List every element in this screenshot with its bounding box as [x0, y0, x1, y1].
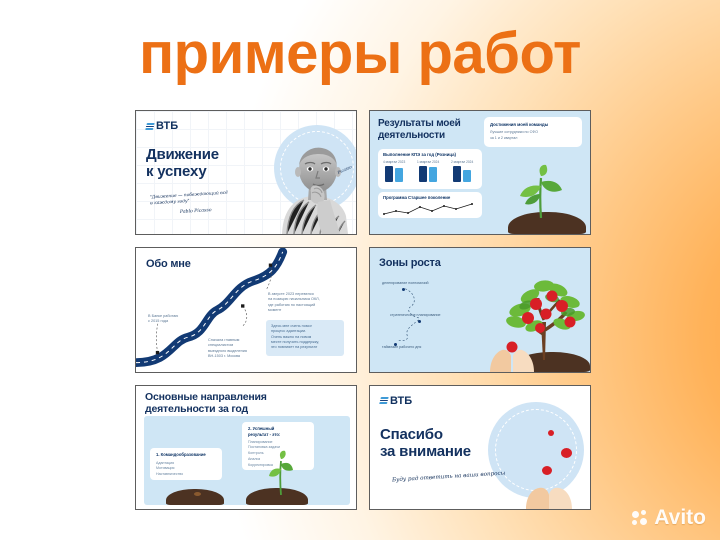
avito-wordmark: Avito	[654, 506, 706, 530]
team-building-card: 1. Командообразование Адаптация Мотиваци…	[150, 448, 222, 480]
avito-dots-icon	[632, 510, 649, 527]
program-line-chart	[382, 203, 478, 216]
sprout-illustration	[518, 164, 564, 218]
kpi-card: Выполнение КПЭ за год (Розница) 4 кварта…	[378, 149, 482, 189]
slide-thumbnail-about[interactable]: Обо мне В Банке работаю с 2015 года Снач…	[135, 247, 357, 372]
page-title: примеры работ	[0, 22, 720, 86]
team-achievements-card: Достижения моей команды Лучшие сотрудник…	[484, 117, 582, 147]
seed-icon	[194, 492, 201, 496]
team-card-text: Лучшие сотрудники по СФО за 1 и 2 кварта…	[490, 130, 538, 141]
picasso-portrait	[278, 142, 352, 234]
slide-thumbnail-results[interactable]: Результаты моей деятельности Достижения …	[369, 110, 591, 235]
team-building-list: Адаптация Мотивация Наставничество	[156, 461, 183, 478]
slides-grid: ВТБ Движение к успеху "Движение — побежд…	[135, 110, 591, 510]
slide-thumbnail-growth[interactable]: Зоны роста делегирование полномочий стра…	[369, 247, 591, 372]
slide-thumbnail-title[interactable]: ВТБ Движение к успеху "Движение — побежд…	[135, 110, 357, 235]
kpi-bars-1	[385, 166, 403, 182]
poster-stage: примеры работ ВТБ Движение к успеху "Дви…	[0, 0, 720, 540]
about-connectors	[136, 248, 356, 371]
kpi-quarter-label-3: 2 квартал 2024	[451, 160, 473, 164]
apple-icon	[561, 448, 572, 458]
slide2-title: Результаты моей деятельности	[378, 118, 461, 142]
team-building-title: 1. Командообразование	[156, 452, 206, 457]
slide-thumbnail-thankyou[interactable]: ВТБ Спасибо за внимание Буду рад ответит…	[369, 385, 591, 510]
avito-watermark: Avito	[632, 506, 706, 530]
kpi-quarter-label-2: 1 квартал 2024	[417, 160, 439, 164]
vtb-wordmark: ВТБ	[390, 395, 412, 407]
vtb-bars-icon	[379, 397, 389, 404]
team-item: Наставничество	[156, 472, 183, 478]
slide6-title: Спасибо за внимание	[380, 426, 471, 460]
success-card-title: 2. Успешный результат - это:	[248, 426, 280, 438]
sprout-illustration	[268, 449, 294, 495]
program-card-title: Программа Старшее поколение	[383, 195, 450, 200]
slide1-title: Движение к успеху	[146, 146, 219, 180]
apple-icon	[542, 466, 552, 475]
hands-illustration	[488, 338, 536, 372]
kpi-bars-2	[419, 166, 437, 182]
vtb-wordmark: ВТБ	[156, 120, 178, 132]
apple-icon	[548, 430, 554, 436]
vtb-bars-icon	[145, 123, 155, 130]
vtb-logo: ВТБ	[146, 120, 178, 132]
kpi-quarter-label-1: 4 квартал 2023	[383, 160, 405, 164]
slide-thumbnail-directions[interactable]: Основные направления деятельности за год…	[135, 385, 357, 510]
kpi-bars-3	[453, 166, 471, 182]
slide5-title: Основные направления деятельности за год	[145, 391, 267, 415]
kpi-card-title: Выполнение КПЭ за год (Розница)	[383, 152, 456, 157]
program-card: Программа Старшее поколение	[378, 192, 482, 218]
vtb-logo: ВТБ	[380, 395, 412, 407]
team-card-title: Достижения моей команды	[490, 122, 548, 127]
hands-illustration	[524, 479, 574, 509]
